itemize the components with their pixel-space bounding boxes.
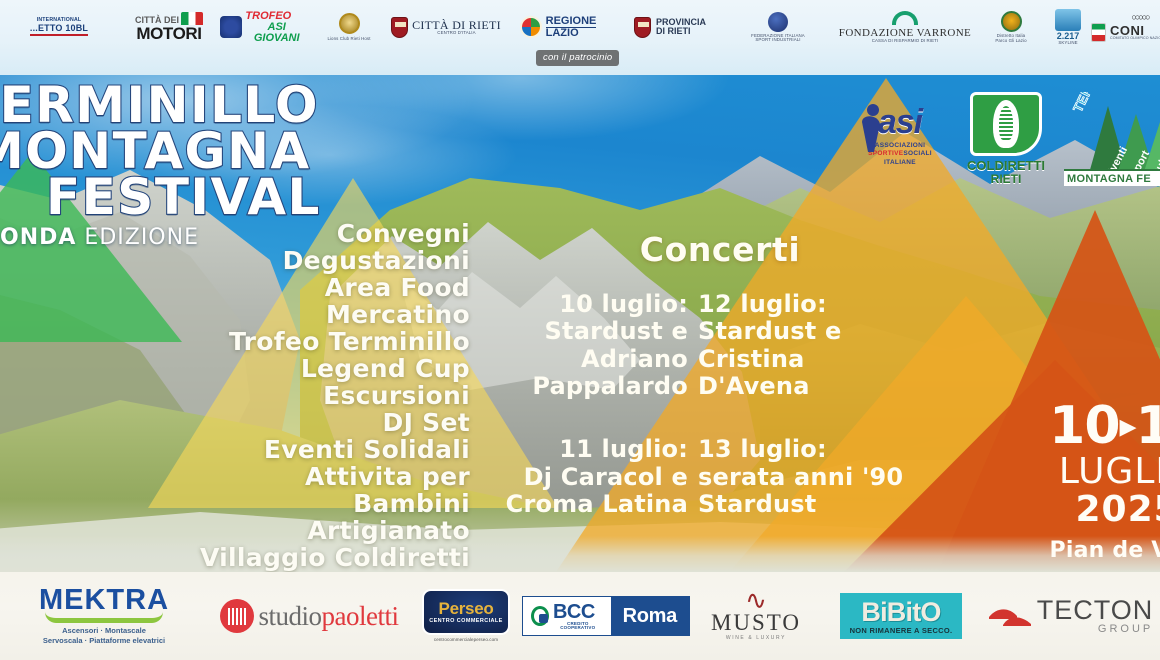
title-line-festival: FESTIVAL [46, 174, 321, 220]
distretto-emblem-icon [1001, 11, 1022, 32]
activity-item: Attivita per [10, 463, 470, 490]
tecton-group-label: GROUP [1098, 624, 1153, 635]
logo-line-1: TROFEO [245, 11, 291, 22]
organizer-badges: asi ASSOCIAZIONI SPORTIVESOCIALI ITALIAN… [852, 92, 1160, 202]
paoletti-wordmark: studiopaoletti [259, 603, 399, 630]
activity-item: Artigianato [10, 517, 470, 544]
concert-artist-line: Pappalardo [490, 373, 688, 400]
regione-lazio-mark: REGIONE LAZIO [520, 16, 597, 39]
logo-line-2: MOTORI [136, 25, 201, 42]
logo-line-1: CONI [1110, 24, 1145, 37]
activity-item: Villaggio Coldiretti [10, 544, 470, 571]
skyline-mark-icon [1055, 9, 1081, 31]
perseo-wordmark: Perseo [439, 600, 494, 617]
concert-date: 10 luglio: [490, 291, 688, 318]
date-range: 10▸13 [1049, 400, 1160, 452]
sponsor-mektra: MEKTRA Ascensori · Montascale Servoscala… [0, 580, 208, 652]
logo-coni: ○○○○○ CONI COMITATO OLIMPICO NAZIONALE I… [1094, 4, 1160, 50]
activity-item: Legend Cup [10, 355, 470, 382]
logo-regione-lazio: REGIONE LAZIO [502, 4, 614, 50]
fisi-emblem-icon [768, 12, 788, 32]
coldiretti-city: RIETI [967, 173, 1045, 186]
paoletti-lockup: studiopaoletti [220, 599, 399, 633]
mektra-wordmark: MEKTRA [39, 586, 169, 615]
logo-line-2: SPORT INDUSTRIALI [755, 38, 800, 42]
event-dates-block: 10▸13 LUGLIO 2025 Pian de Valli [1049, 400, 1160, 562]
concert-entry: 12 luglio: Stardust e Cristina D'Avena [698, 291, 916, 400]
logo-line-2: ...ETTO 10BL [30, 24, 88, 36]
sponsor-musto: ∿ MUSTO WINE & LUXURY [690, 580, 822, 652]
logo-line-2: DI RIETI [656, 27, 691, 36]
asi-shield-icon [220, 16, 242, 38]
paoletti-word-paoletti: paoletti [322, 601, 399, 631]
bcc-roma-label: Roma [611, 597, 689, 635]
concerti-heading: Concerti [520, 230, 920, 269]
asi-giovani-mark: TROFEO ASI GIOVANI [220, 11, 308, 44]
perseo-badge-icon: Perseo CENTRO COMMERCIALE [422, 589, 510, 635]
activity-item: Eventi Solidali [10, 436, 470, 463]
asi-logo: asi ASSOCIAZIONI SPORTIVESOCIALI ITALIAN… [852, 92, 948, 178]
bibito-tagline: NON RIMANERE A SECCO. [850, 627, 953, 635]
logo-line-2: COMITATO OLIMPICO NAZIONALE ITALIANO [1110, 37, 1160, 41]
date-to: 13 [1136, 396, 1160, 456]
sponsor-bibito: BiBitO NON RIMANERE A SECCO. [822, 580, 980, 652]
sponsor-bcc-roma: BCC CREDITO COOPERATIVO Roma [522, 580, 690, 652]
bcc-lockup: BCC CREDITO COOPERATIVO Roma [522, 596, 690, 636]
musto-tagline: WINE & LUXURY [726, 636, 786, 641]
sponsor-studio-paoletti: studiopaoletti [208, 580, 410, 652]
logo-line-1: REGIONE [546, 16, 597, 28]
montagna-strip-label: MONTAGNA FE [1064, 173, 1151, 185]
activity-item: Bambini [10, 490, 470, 517]
coldiretti-shield-icon [970, 92, 1042, 156]
logo-line-2: SKYLINE [1058, 41, 1077, 45]
provincia-shield-icon [634, 17, 651, 38]
bcc-mark-icon [531, 606, 549, 626]
concert-artist-line: Stardust e [490, 318, 688, 345]
coni-flag-icon [1091, 23, 1106, 42]
paoletti-mark-icon [220, 599, 254, 633]
logo-federazione-italiana-sport-industriali: FEDERAZIONE ITALIANA SPORT INDUSTRIALI [726, 4, 830, 50]
logo-citta-di-rieti: CITTÀ DI RIETI CENTRO D'ITALIA [390, 4, 502, 50]
logo-trofeo-asi-giovani: TROFEO ASI GIOVANI [220, 4, 308, 50]
concert-artist-line: Cristina [698, 346, 916, 373]
logo-line-2: CENTRO D'ITALIA [437, 31, 475, 35]
concert-artist-line: Croma Latina [490, 491, 688, 518]
concert-artist-line: D'Avena [698, 373, 916, 400]
bcc-left-panel: BCC CREDITO COOPERATIVO [523, 597, 611, 635]
wheat-icon [993, 100, 1019, 148]
date-year: 2025 [1049, 492, 1160, 528]
asi-sub-sociali: SOCIALI [903, 150, 931, 157]
tecton-wordmark: TECTON [1037, 597, 1154, 624]
logo-citta-dei-motori: CITTÀ DEI MOTORI [118, 4, 220, 50]
patrocinio-label: con il patrocinio [536, 50, 619, 66]
patron-logo-bar: INTERNATIONAL ...ETTO 10BL CITTÀ DEI MOT… [0, 0, 1160, 75]
activity-item: Escursioni [10, 382, 470, 409]
logo-line-2: Parco Gli Lazio [995, 39, 1026, 43]
bcc-tagline: CREDITO COOPERATIVO [553, 622, 603, 631]
sponsor-bar: MEKTRA Ascensori · Montascale Servoscala… [0, 572, 1160, 660]
logo-line-2: ASI GIOVANI [245, 22, 308, 44]
logo-fondazione-varrone: FONDAZIONE VARRONE CASSA DI RISPARMIO DI… [830, 4, 980, 50]
logo-international-10bl: INTERNATIONAL ...ETTO 10BL [0, 4, 118, 50]
bibito-wordmark: BiBitO [861, 599, 940, 626]
rieti-shield-icon [391, 17, 408, 38]
hero-photo: TERMINILLO MONTAGNA FESTIVAL SECONDA EDI… [0, 60, 1160, 572]
mektra-tagline-1: Ascensori · Montascale [62, 626, 146, 636]
concert-artist-line: Adriano [490, 346, 688, 373]
concert-entry: 13 luglio: serata anni '90 Stardust [698, 436, 916, 518]
activity-item: Mercatino [10, 301, 470, 328]
logo-line-2: LAZIO [546, 28, 579, 39]
terminillo-montagna-badge: TERMINILLO Eventi Sport Cultura MONTAGNA… [1064, 92, 1160, 192]
sponsor-perseo: Perseo CENTRO COMMERCIALE centrocommerci… [410, 580, 522, 652]
mektra-swoosh-icon [45, 612, 163, 623]
montagna-strip: MONTAGNA FE [1064, 169, 1160, 186]
activity-item: Degustazioni [10, 247, 470, 274]
asi-athlete-icon [858, 102, 884, 158]
concert-date: 12 luglio: [698, 291, 916, 318]
varrone-arch-icon [892, 11, 918, 25]
concert-entry: 10 luglio: Stardust e Adriano Pappalardo [490, 291, 698, 400]
concert-artist-line: serata anni '90 [698, 464, 916, 491]
festival-poster: INTERNATIONAL ...ETTO 10BL CITTÀ DEI MOT… [0, 0, 1160, 660]
musto-wordmark: MUSTO [711, 611, 801, 634]
coldiretti-logo: COLDIRETTI RIETI [956, 92, 1056, 190]
bcc-wordmark: BCC [553, 602, 595, 622]
perseo-url[interactable]: centrocommercialeperseo.com [434, 638, 498, 643]
date-month: LUGLIO [1049, 454, 1160, 490]
tecton-lockup: TECTON GROUP [987, 597, 1154, 635]
activity-item: DJ Set [10, 409, 470, 436]
coldiretti-name: COLDIRETTI [967, 159, 1045, 173]
perseo-subtitle: CENTRO COMMERCIALE [429, 619, 503, 625]
provincia-rieti-mark: PROVINCIA DI RIETI [634, 17, 706, 38]
logo-line-2: CASSA DI RISPARMIO DI RIETI [872, 39, 939, 43]
sponsor-tecton-group: TECTON GROUP [980, 580, 1160, 652]
concerti-section: Concerti 10 luglio: Stardust e Adriano P… [490, 230, 920, 519]
logo-2217-skyline: 2.217 SKYLINE [1042, 4, 1094, 50]
lions-crest-icon [339, 13, 360, 34]
logo-line-1: CITTÀ DI RIETI [412, 19, 501, 31]
coldiretti-label: COLDIRETTI RIETI [967, 159, 1045, 185]
activity-item: Convegni [10, 220, 470, 247]
concert-artist-line: Dj Caracol e [490, 464, 688, 491]
lazio-emblem-icon [520, 16, 542, 38]
date-from: 10 [1049, 396, 1119, 456]
activities-list: Convegni Degustazioni Area Food Mercatin… [10, 220, 470, 571]
mektra-tagline-2: Servoscala · Piattaforme elevatrici [43, 636, 165, 646]
concert-date: 13 luglio: [698, 436, 916, 463]
logo-lions-club-rieti-host: Lions Club Rieti Host [308, 4, 390, 50]
logo-distretto-italia-parco-lazio: Distretto Italia Parco Gli Lazio [980, 4, 1042, 50]
olympic-rings-icon: ○○○○○ [1131, 13, 1148, 22]
concert-artist-line: Stardust [698, 491, 916, 518]
range-arrow-icon: ▸ [1120, 406, 1136, 446]
logo-provincia-di-rieti: PROVINCIA DI RIETI [614, 4, 726, 50]
citta-rieti-mark: CITTÀ DI RIETI CENTRO D'ITALIA [391, 17, 501, 38]
event-location: Pian de Valli [1049, 540, 1160, 562]
tecton-mark-icon [987, 603, 1033, 629]
coni-mark: CONI COMITATO OLIMPICO NAZIONALE ITALIAN… [1091, 23, 1160, 42]
logo-line-2: Lions Club Rieti Host [327, 37, 370, 41]
asi-sub-line3: ITALIANE [868, 159, 932, 167]
activity-item: Trofeo Terminillo [10, 328, 470, 355]
concert-artist-line: Stardust e [698, 318, 916, 345]
musto-mark-icon: ∿ [745, 591, 767, 612]
activity-item: Area Food [10, 274, 470, 301]
asi-wordmark: asi [878, 103, 922, 142]
concert-date: 11 luglio: [490, 436, 688, 463]
bibito-lockup: BiBitO NON RIMANERE A SECCO. [840, 593, 963, 640]
paoletti-word-studio: studio [259, 601, 322, 631]
patron-logo-row: INTERNATIONAL ...ETTO 10BL CITTÀ DEI MOT… [0, 4, 1160, 50]
concert-entry: 11 luglio: Dj Caracol e Croma Latina [490, 436, 698, 518]
concerti-grid: 10 luglio: Stardust e Adriano Pappalardo… [490, 291, 920, 519]
